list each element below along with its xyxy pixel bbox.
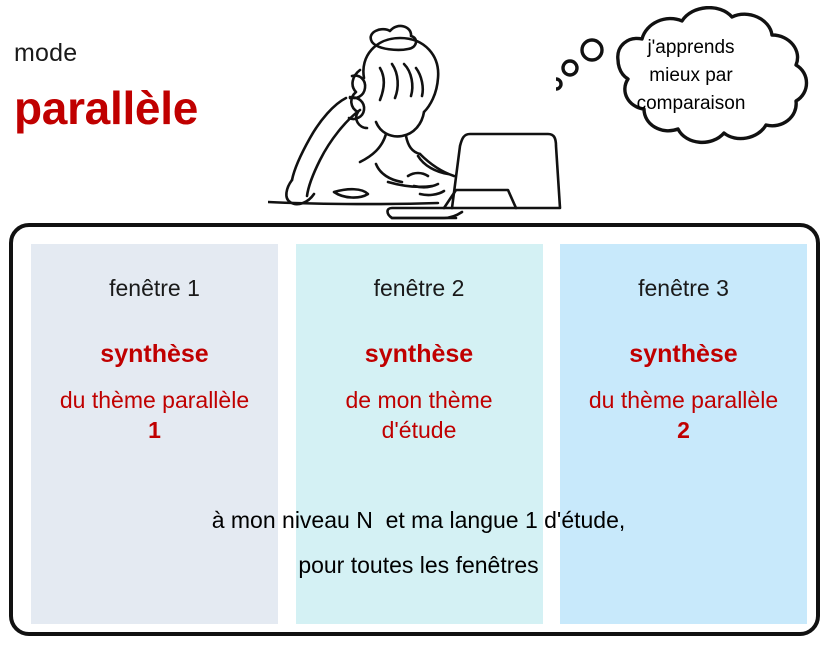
window-2-subject: de mon thème d'étude xyxy=(296,385,543,445)
mode-value: parallèle xyxy=(14,80,284,136)
title-block: mode parallèle xyxy=(14,38,284,136)
thought-line-2: mieux par xyxy=(596,62,786,90)
window-1-subject: du thème parallèle 1 xyxy=(31,385,278,445)
window-column-3[interactable]: fenêtre 3 synthèse du thème parallèle 2 xyxy=(560,244,807,624)
window-2-heading: synthèse xyxy=(296,339,543,369)
window-3-subject: du thème parallèle 2 xyxy=(560,385,807,445)
header-zone: mode parallèle xyxy=(0,0,829,222)
window-3-subject-line: du thème parallèle xyxy=(560,385,807,415)
window-box: fenêtre 1 synthèse du thème parallèle 1 … xyxy=(9,223,820,636)
window-2-label: fenêtre 2 xyxy=(296,274,543,302)
thought-bubble-text: j'apprends mieux par comparaison xyxy=(596,34,786,118)
window-3-heading: synthèse xyxy=(560,339,807,369)
window-3-subject-number: 2 xyxy=(560,415,807,445)
thought-line-3: comparaison xyxy=(596,90,786,118)
window-2-subject-number: d'étude xyxy=(296,415,543,445)
window-column-1[interactable]: fenêtre 1 synthèse du thème parallèle 1 xyxy=(31,244,278,624)
window-1-label: fenêtre 1 xyxy=(31,274,278,302)
window-1-subject-line: du thème parallèle xyxy=(31,385,278,415)
person-thinking-at-laptop-icon xyxy=(268,6,568,222)
window-2-subject-line: de mon thème xyxy=(296,385,543,415)
window-1-heading: synthèse xyxy=(31,339,278,369)
window-3-label: fenêtre 3 xyxy=(560,274,807,302)
window-column-2-content: fenêtre 2 synthèse de mon thème d'étude xyxy=(296,274,543,445)
thought-line-1: j'apprends xyxy=(596,34,786,62)
window-column-1-content: fenêtre 1 synthèse du thème parallèle 1 xyxy=(31,274,278,445)
window-column-3-content: fenêtre 3 synthèse du thème parallèle 2 xyxy=(560,274,807,445)
window-columns: fenêtre 1 synthèse du thème parallèle 1 … xyxy=(31,244,807,624)
mode-label: mode xyxy=(14,38,284,68)
window-1-subject-number: 1 xyxy=(31,415,278,445)
window-column-2[interactable]: fenêtre 2 synthèse de mon thème d'étude xyxy=(296,244,543,624)
